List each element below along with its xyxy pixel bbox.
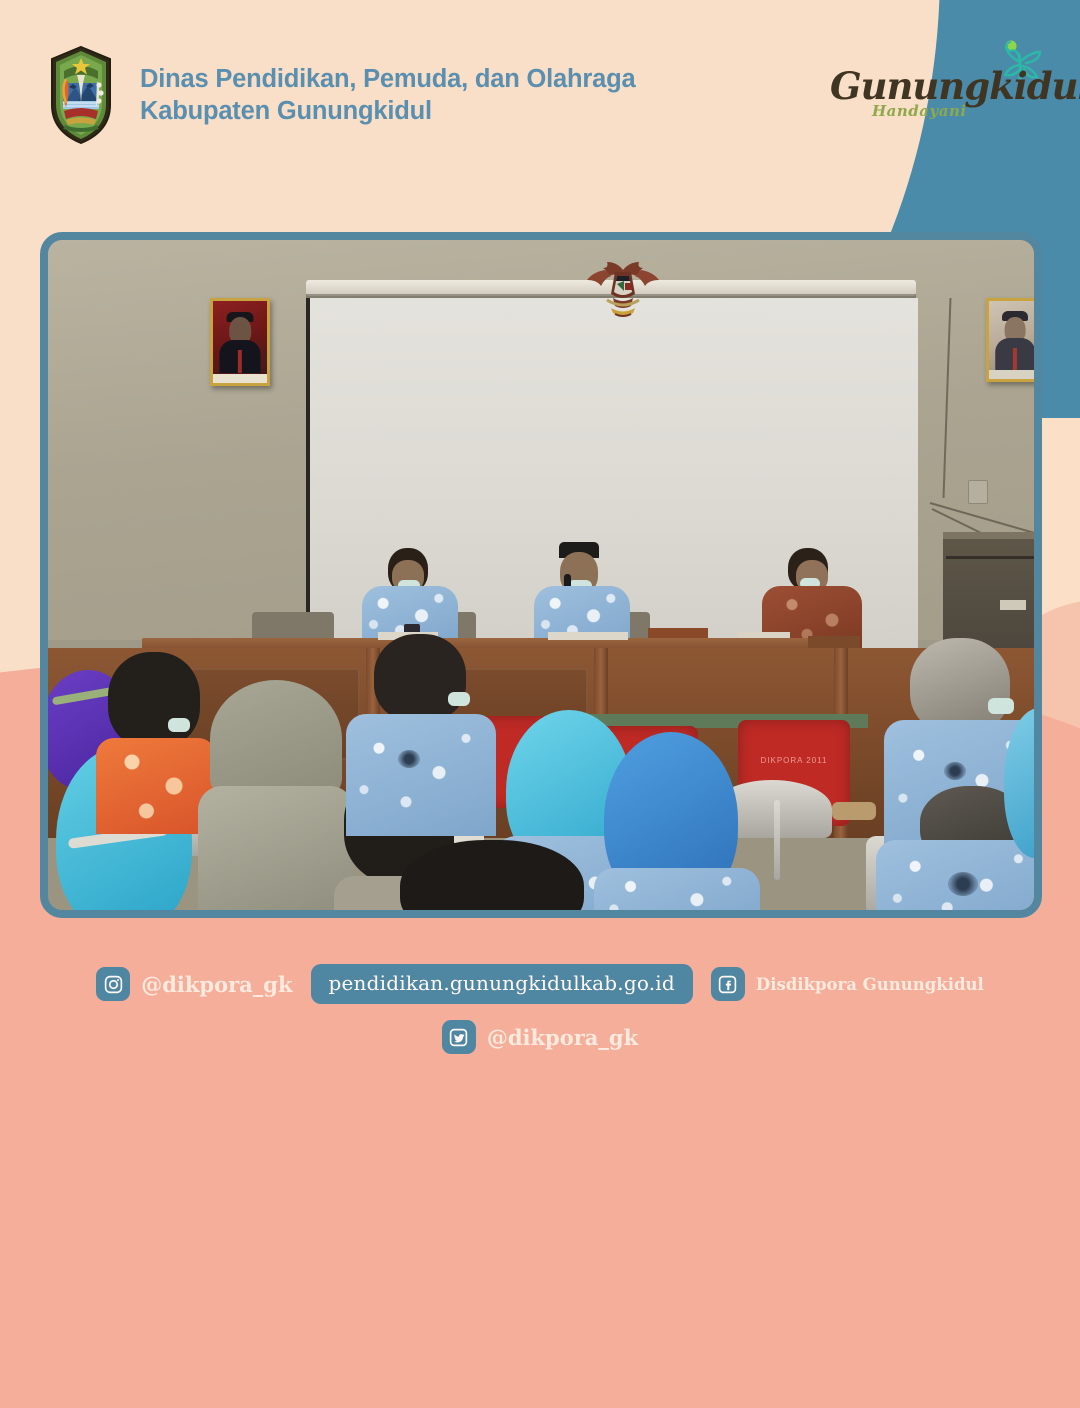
title-line-2: Kabupaten Gunungkidul	[140, 95, 635, 127]
gunungkidul-brand-logo: Gunungkidul Handayani	[822, 40, 1052, 130]
papers-center	[548, 632, 628, 640]
social-row-primary: @dikpora_gk pendidikan.gunungkidulkab.go…	[0, 964, 1080, 1004]
facebook-icon[interactable]	[711, 967, 745, 1001]
facebook-item[interactable]: Disdikpora Gunungkidul	[711, 967, 984, 1001]
page-title: Dinas Pendidikan, Pemuda, dan Olahraga K…	[140, 63, 635, 127]
cabinet-label	[1000, 600, 1026, 610]
president-portrait-frame-icon	[210, 298, 270, 386]
meeting-photograph: DIKPORA 2011	[40, 232, 1042, 918]
chair-armrest	[832, 802, 876, 820]
instagram-handle: @dikpora_gk	[141, 972, 292, 997]
instagram-icon[interactable]	[96, 967, 130, 1001]
footer-social-bar: @dikpora_gk pendidikan.gunungkidulkab.go…	[0, 964, 1080, 1054]
vice-president-portrait-frame-icon	[986, 298, 1034, 382]
desk-object	[648, 628, 708, 638]
facebook-page: Disdikpora Gunungkidul	[756, 975, 984, 994]
title-line-1: Dinas Pendidikan, Pemuda, dan Olahraga	[140, 63, 635, 95]
website-url-pill[interactable]: pendidikan.gunungkidulkab.go.id	[311, 964, 693, 1004]
twitter-icon[interactable]	[442, 1020, 476, 1054]
twitter-handle: @dikpora_gk	[487, 1025, 638, 1050]
wall-socket	[968, 480, 988, 504]
gunungkidul-regency-crest-icon	[44, 45, 118, 145]
chrome-chair-leg-1	[774, 800, 780, 880]
cabinet-edge	[946, 556, 1034, 559]
brand-tagline: Handayani	[872, 102, 967, 120]
chair-label: DIKPORA 2011	[738, 756, 850, 765]
header: Dinas Pendidikan, Pemuda, dan Olahraga K…	[0, 0, 860, 190]
garuda-pancasila-emblem-icon	[585, 256, 661, 326]
instagram-item[interactable]: @dikpora_gk	[96, 967, 292, 1001]
social-row-secondary: @dikpora_gk	[0, 1020, 1080, 1054]
twitter-item[interactable]: @dikpora_gk	[442, 1020, 638, 1054]
